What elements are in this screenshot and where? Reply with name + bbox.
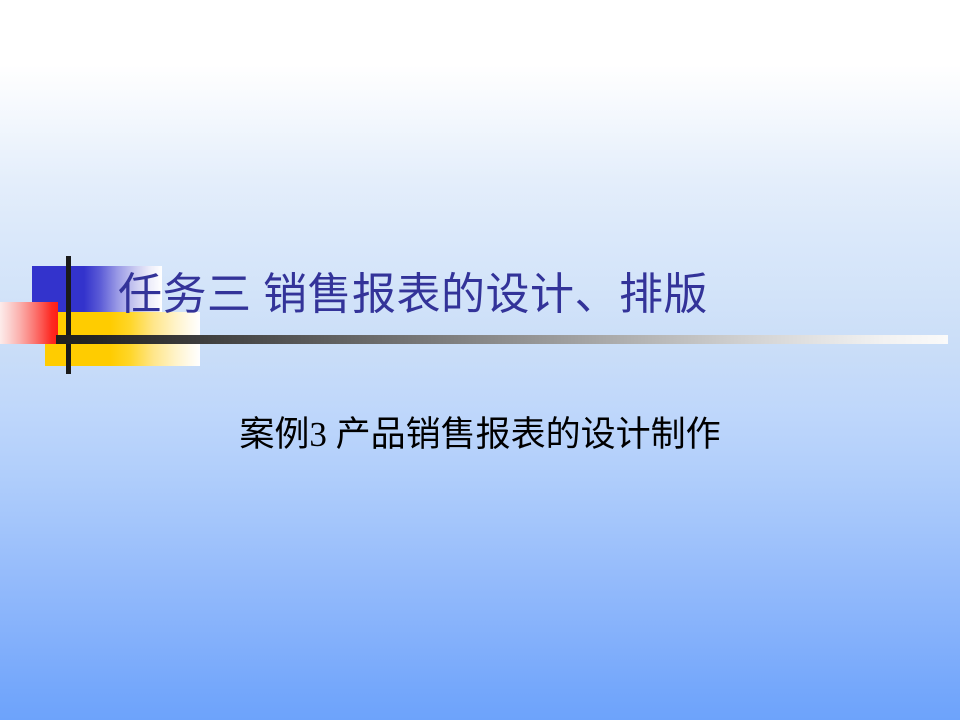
horizontal-fade-rule <box>56 335 948 344</box>
vertical-black-rule <box>66 256 71 374</box>
slide-subtitle: 案例3 产品销售报表的设计制作 <box>0 412 960 458</box>
slide-title: 任务三 销售报表的设计、排版 <box>118 266 918 326</box>
presentation-slide: 任务三 销售报表的设计、排版 案例3 产品销售报表的设计制作 <box>0 0 960 720</box>
red-fade-rectangle-icon <box>0 302 58 344</box>
